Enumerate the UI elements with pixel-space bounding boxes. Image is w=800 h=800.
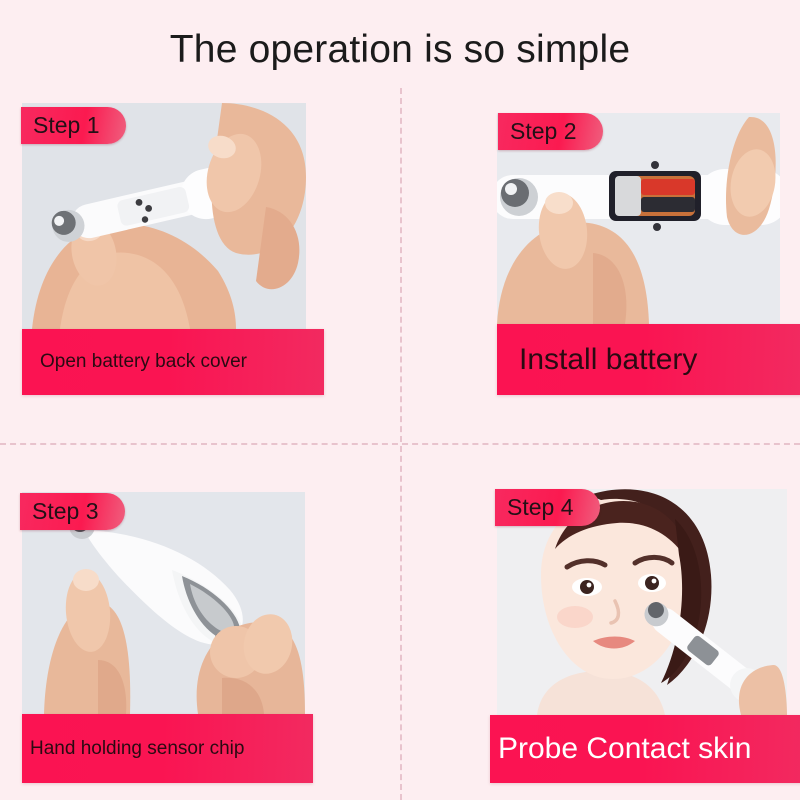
step-3-caption: Hand holding sensor chip xyxy=(22,714,313,783)
step-4-caption: Probe Contact skin xyxy=(490,715,800,783)
step-panel-4: Step 4 Probe Contact skin xyxy=(490,489,800,783)
step-3-badge: Step 3 xyxy=(20,493,125,530)
step-4-caption-text: Probe Contact skin xyxy=(498,732,751,766)
vertical-dashed-divider xyxy=(400,88,402,800)
step-panel-2: Step 2 Install battery xyxy=(497,113,780,395)
step-1-caption-text: Open battery back cover xyxy=(40,351,247,373)
step-panel-1: Step 1 Open battery back cover xyxy=(22,103,306,395)
step-1-caption: Open battery back cover xyxy=(22,329,324,395)
step-1-badge: Step 1 xyxy=(21,107,126,144)
step-2-caption-text: Install battery xyxy=(519,343,697,377)
step-2-badge: Step 2 xyxy=(498,113,603,150)
step-panel-3: Step 3 Hand holding sensor chip xyxy=(22,492,305,783)
page-title: The operation is so simple xyxy=(0,30,800,69)
step-2-caption: Install battery xyxy=(497,324,800,395)
step-3-caption-text: Hand holding sensor chip xyxy=(30,738,244,760)
step-4-badge: Step 4 xyxy=(495,489,600,526)
